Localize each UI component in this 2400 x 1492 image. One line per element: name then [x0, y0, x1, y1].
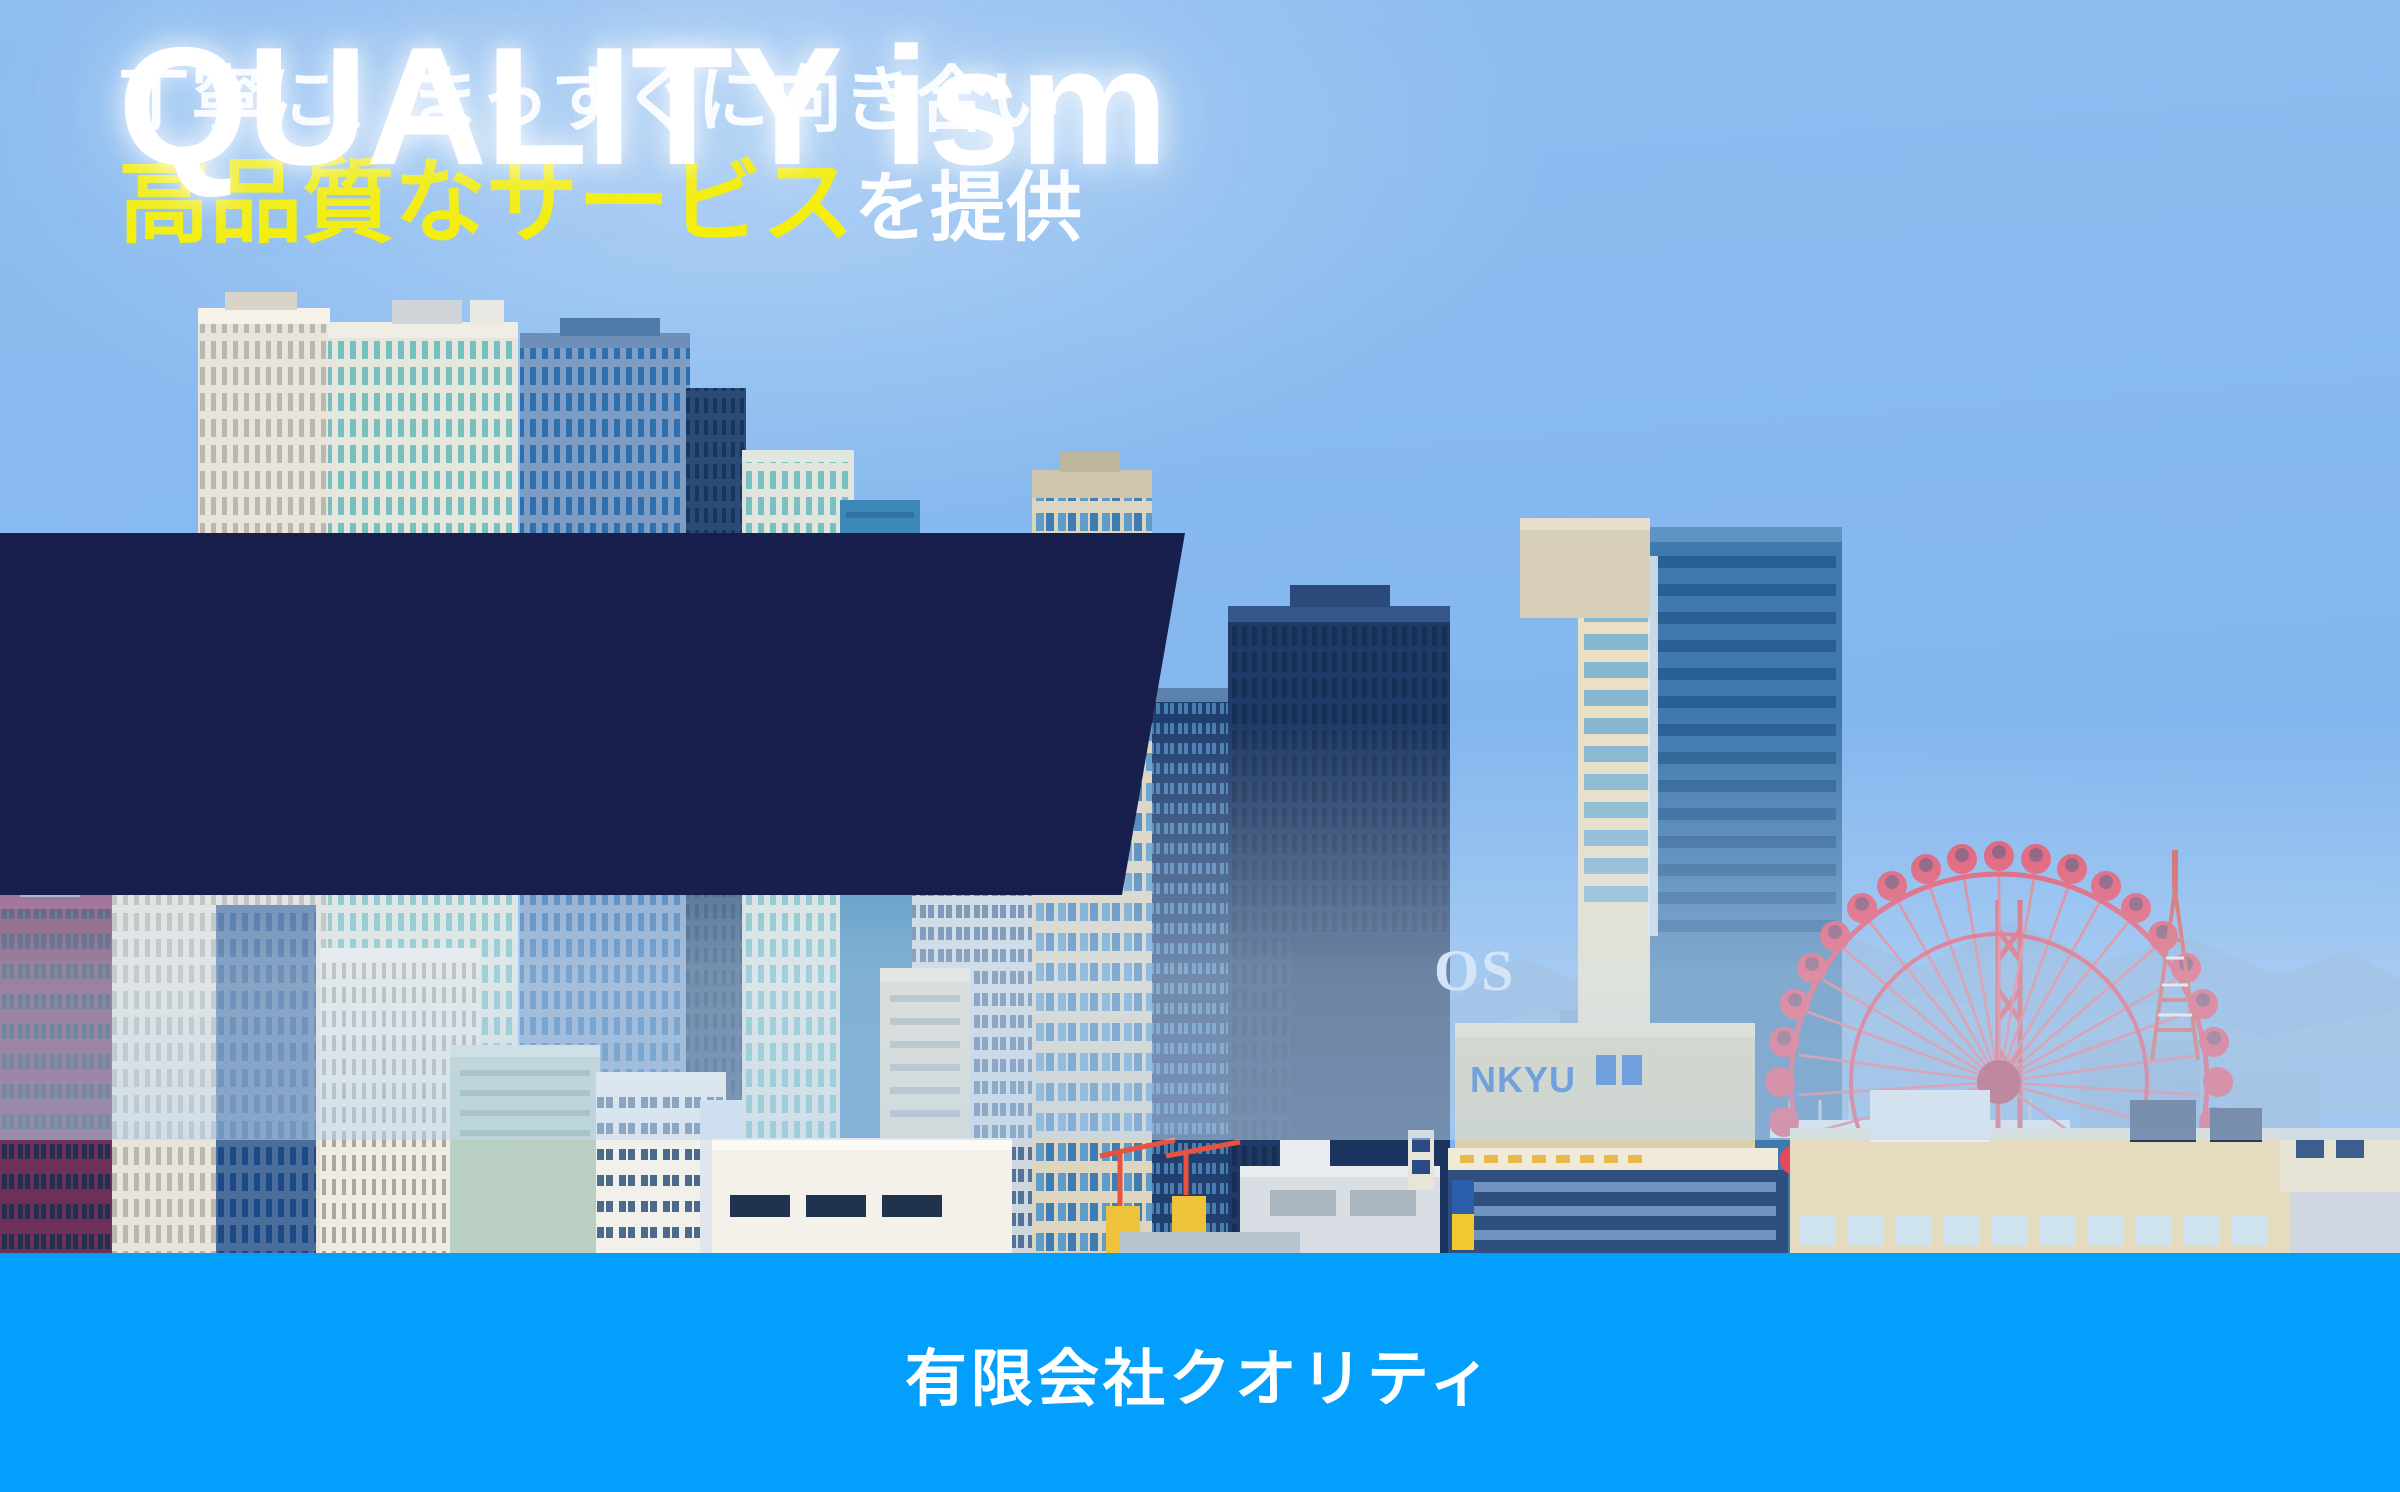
page-title: QUALITY ism [118, 22, 1166, 190]
title-accent: ism [883, 12, 1167, 200]
company-footer-bar: 有限会社クオリティ [0, 1253, 2400, 1492]
title-main: QUALITY [118, 12, 838, 200]
company-name: 有限会社クオリティ [905, 1328, 1495, 1418]
hero-banner-image: OS NK [0, 0, 2400, 1492]
tagline-banner [0, 533, 1190, 895]
